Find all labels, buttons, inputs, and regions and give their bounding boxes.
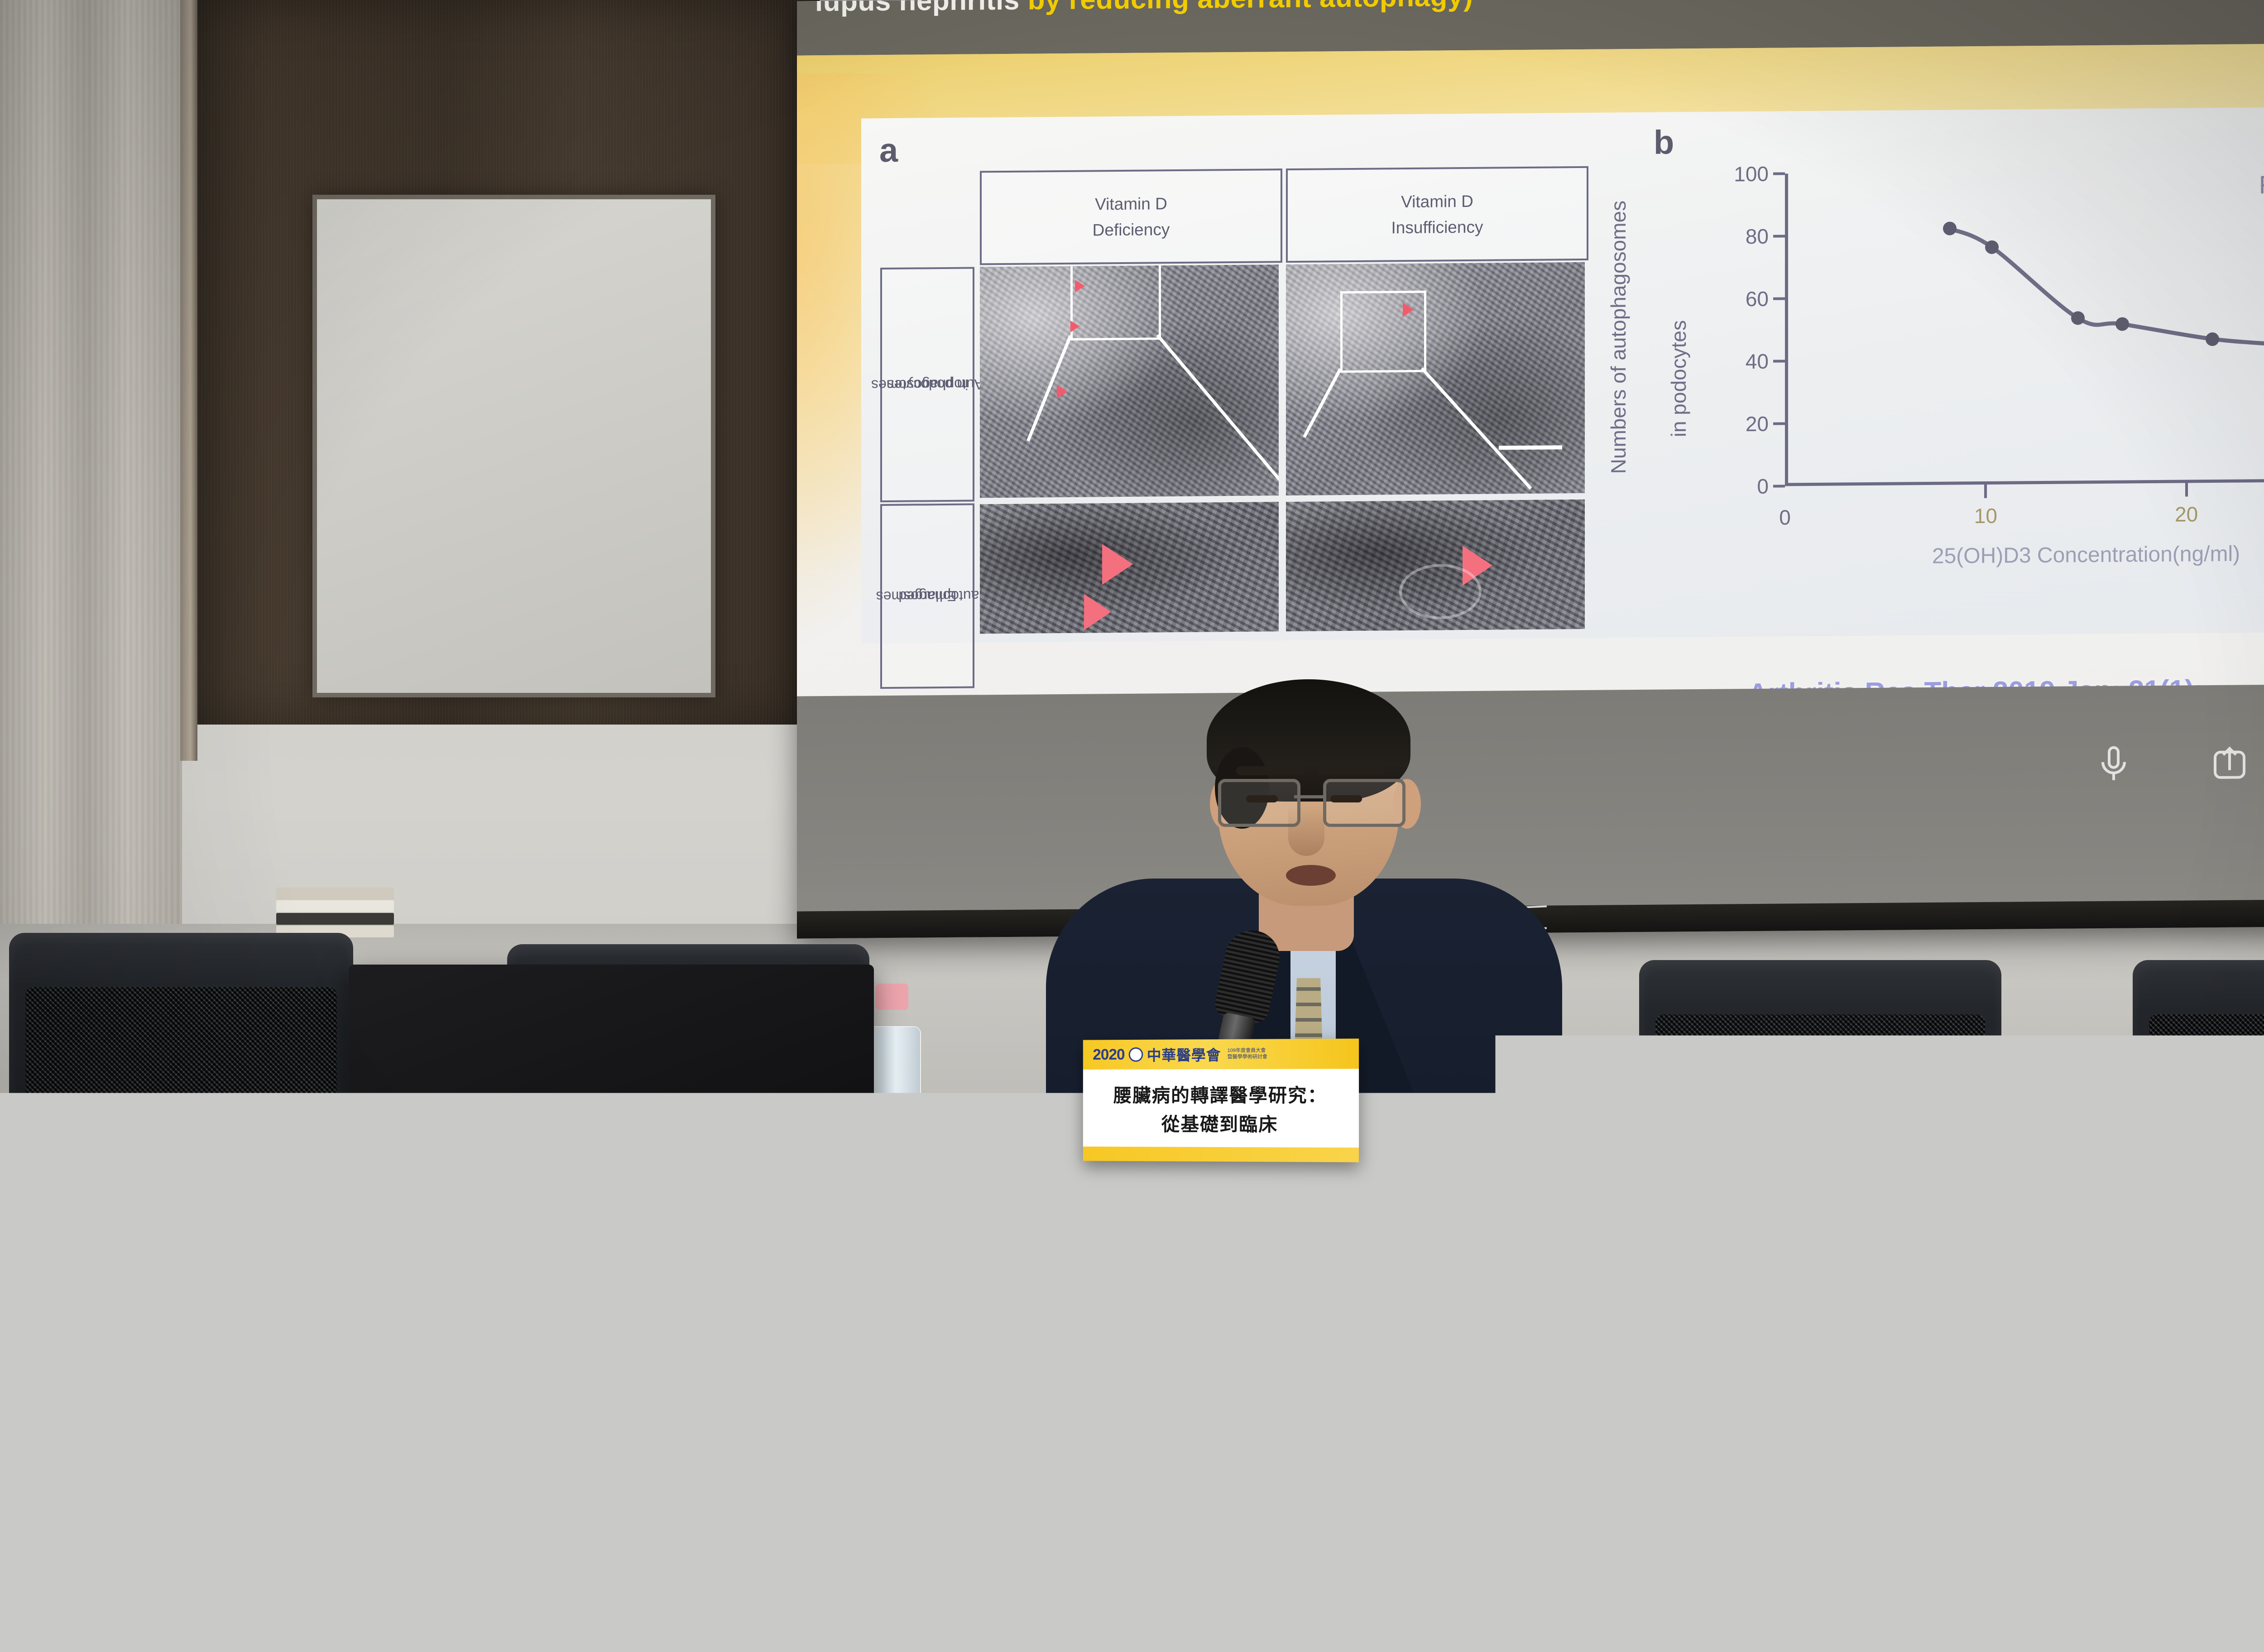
chart-y-tick-label: 40: [1746, 349, 1769, 374]
chart-x-tick-label: 10: [1974, 504, 1997, 528]
eye-right: [1330, 795, 1362, 802]
eyebrow-right: [1318, 766, 1386, 775]
floor: [0, 1599, 2264, 1652]
whiteboard: [312, 195, 715, 697]
chart-x-tick: [1984, 485, 1987, 498]
panel-a: a Vitamin D Deficiency Vitamin D Insuffi…: [875, 120, 1617, 634]
screenshot-root: lupus nephritis by reducing aberrant aut…: [0, 0, 2264, 1652]
emblem-icon: [1128, 1047, 1143, 1062]
placard-org: 中華醫學會: [1147, 1044, 1221, 1065]
dell-logo-icon: DELL: [549, 1123, 609, 1183]
chart-point: [1985, 240, 1999, 254]
slide-body: a Vitamin D Deficiency Vitamin D Insuffi…: [797, 42, 2264, 703]
chart-point: [2206, 332, 2219, 346]
chart-annotation-rsq: R²=0.8481: [2259, 169, 2264, 199]
micrograph-deficiency-enlarged: [980, 502, 1279, 634]
nose: [1288, 806, 1324, 856]
chart-y-tick: [1773, 297, 1785, 300]
slide-title-white: lupus nephritis: [815, 0, 1020, 17]
chart-y-tick: [1773, 422, 1785, 425]
panel-b-chart: b Numbers of autophagosomes in podocytes…: [1649, 114, 2264, 627]
column-header-deficiency: Vitamin D Deficiency: [980, 168, 1282, 265]
share-screen-icon[interactable]: [2208, 741, 2251, 785]
chart-y-tick: [1773, 485, 1785, 487]
chart-y-tick: [1773, 172, 1785, 175]
figure-card: a Vitamin D Deficiency Vitamin D Insuffi…: [861, 106, 2264, 644]
eye-left: [1246, 795, 1278, 802]
placard-subtext: 109年度會員大會 暨醫學學術研討會: [1228, 1048, 1267, 1061]
panel-a-letter: a: [879, 131, 898, 169]
chart-y-tick-label: 0: [1757, 474, 1769, 499]
placard-header-band: 2020 中華醫學會 109年度會員大會 暨醫學學術研討會: [1083, 1038, 1359, 1069]
micrograph-deficiency-top: [980, 264, 1279, 498]
chart-y-tick-label: 20: [1746, 412, 1769, 436]
placard-title-area: 腰臟病的轉譯醫學研究： 從基礎到臨床: [1083, 1069, 1359, 1148]
chart-y-tick-label: 80: [1746, 224, 1769, 249]
chart-ylabel-line1: Numbers of autophagosomes: [1606, 201, 1631, 474]
table-microphone-left[interactable]: [0, 1100, 77, 1143]
chart-x-tick: [2185, 483, 2188, 496]
column-header-insufficiency: Vitamin D Insufficiency: [1286, 166, 1588, 263]
row-header-autophagosomes: Autophagosomes in podocytes: [880, 267, 974, 502]
microphone-icon[interactable]: [2092, 742, 2135, 786]
dell-monitor-rear: [349, 965, 874, 1263]
chart-y-tick-label: 100: [1734, 162, 1769, 187]
chart-xlabel: 25(OH)D3 Concentration(ng/ml): [1785, 540, 2264, 570]
window-curtain: [0, 0, 182, 928]
micrograph-insufficiency-enlarged: [1286, 499, 1585, 631]
row-header-enlarged: Enlarged autophagosmes: [880, 503, 974, 689]
name-placard: 2020 中華醫學會 109年度會員大會 暨醫學學術研討會 腰臟病的轉譯醫學研究…: [1083, 1038, 1359, 1162]
mouth: [1286, 865, 1336, 886]
chart-y-tick: [1773, 360, 1785, 362]
chart-x-tick-label: 20: [2175, 502, 2198, 526]
placard-year: 2020: [1093, 1046, 1124, 1063]
chart-plot-area: 020406080100 0102030: [1785, 169, 2264, 486]
chart-point: [1943, 222, 1957, 235]
placard-title-line2: 從基礎到臨床: [1161, 1109, 1278, 1136]
col-head-line2: Deficiency: [1093, 216, 1170, 243]
col-head-line1: Vitamin D: [1095, 191, 1167, 217]
placard-title-line1: 腰臟病的轉譯醫學研究：: [1113, 1080, 1327, 1108]
eyebrow-left: [1236, 766, 1304, 775]
presenter-arm-right: [1323, 1100, 1593, 1527]
chart-y-tick-label: 60: [1746, 287, 1769, 311]
placard-footer-band: [1083, 1147, 1359, 1162]
chart-y-tick: [1773, 235, 1785, 237]
chart-point: [2071, 312, 2085, 325]
wood-panel-edge: [180, 0, 197, 761]
micrograph-insufficiency-top: [1286, 262, 1585, 495]
chart-x-tick-label: 0: [1779, 505, 1791, 529]
chart-point: [2115, 317, 2129, 331]
chart-ylabel-line2: in podocytes: [1666, 320, 1691, 437]
panel-b-letter: b: [1654, 123, 1674, 161]
col-head-line1: Vitamin D: [1401, 188, 1473, 215]
video-call-toolbar[interactable]: [2092, 716, 2264, 807]
col-head-line2: Insufficiency: [1391, 214, 1483, 241]
table-microphone-mid[interactable]: [1648, 1146, 1734, 1189]
chart-fit-curve: [1785, 169, 2264, 486]
